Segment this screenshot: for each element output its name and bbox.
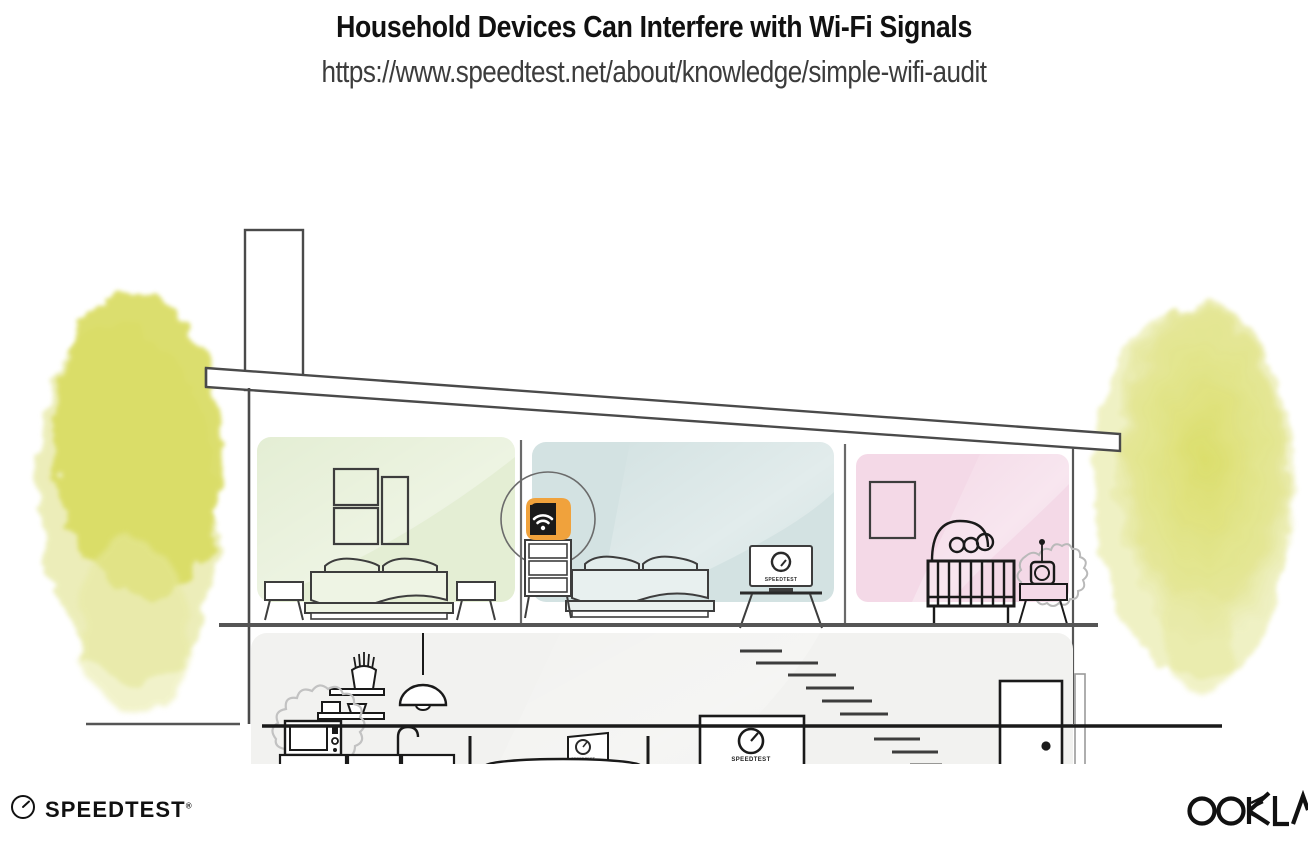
ookla-logo bbox=[1185, 790, 1308, 837]
house-illustration: SPEEDTEST bbox=[0, 104, 1308, 764]
bed-green bbox=[305, 559, 453, 619]
room-ground-floor: SPEEDTEST bbox=[251, 633, 1085, 764]
desk-blue: SPEEDTEST bbox=[740, 546, 822, 628]
monitor-screen-label: SPEEDTEST bbox=[765, 577, 797, 583]
nightstand-green-left bbox=[265, 582, 303, 620]
front-door[interactable] bbox=[988, 681, 1062, 764]
speedtest-wordmark: SPEEDTEST® bbox=[45, 797, 192, 823]
header: Household Devices Can Interfere with Wi-… bbox=[0, 0, 1308, 90]
speedometer-icon bbox=[10, 794, 36, 825]
ookla-wordmark bbox=[1190, 793, 1308, 824]
speedtest-logo: SPEEDTEST® bbox=[10, 794, 192, 825]
foliage-left bbox=[38, 293, 222, 711]
room-nursery-pink bbox=[856, 454, 1087, 624]
poster-root: Household Devices Can Interfere with Wi-… bbox=[0, 0, 1308, 861]
source-url: https://www.speedtest.net/about/knowledg… bbox=[105, 54, 1204, 90]
page-title: Household Devices Can Interfere with Wi-… bbox=[92, 9, 1217, 45]
speedtest-wordmark-text: SPEEDTEST bbox=[45, 797, 186, 822]
nightstand-green-right bbox=[457, 582, 495, 620]
chimney bbox=[245, 230, 303, 390]
foliage-right bbox=[1095, 305, 1294, 694]
door-knob-icon[interactable] bbox=[1041, 741, 1050, 750]
room-bedroom-green bbox=[257, 437, 515, 620]
tv-group: SPEEDTEST bbox=[700, 716, 804, 764]
side-window bbox=[1075, 674, 1085, 764]
footer: SPEEDTEST® bbox=[0, 780, 1308, 861]
room-bedroom-blue: SPEEDTEST bbox=[501, 442, 834, 628]
bed-blue bbox=[566, 557, 714, 617]
tv-screen-label: SPEEDTEST bbox=[731, 757, 770, 763]
speedtest-trademark: ® bbox=[186, 801, 192, 810]
